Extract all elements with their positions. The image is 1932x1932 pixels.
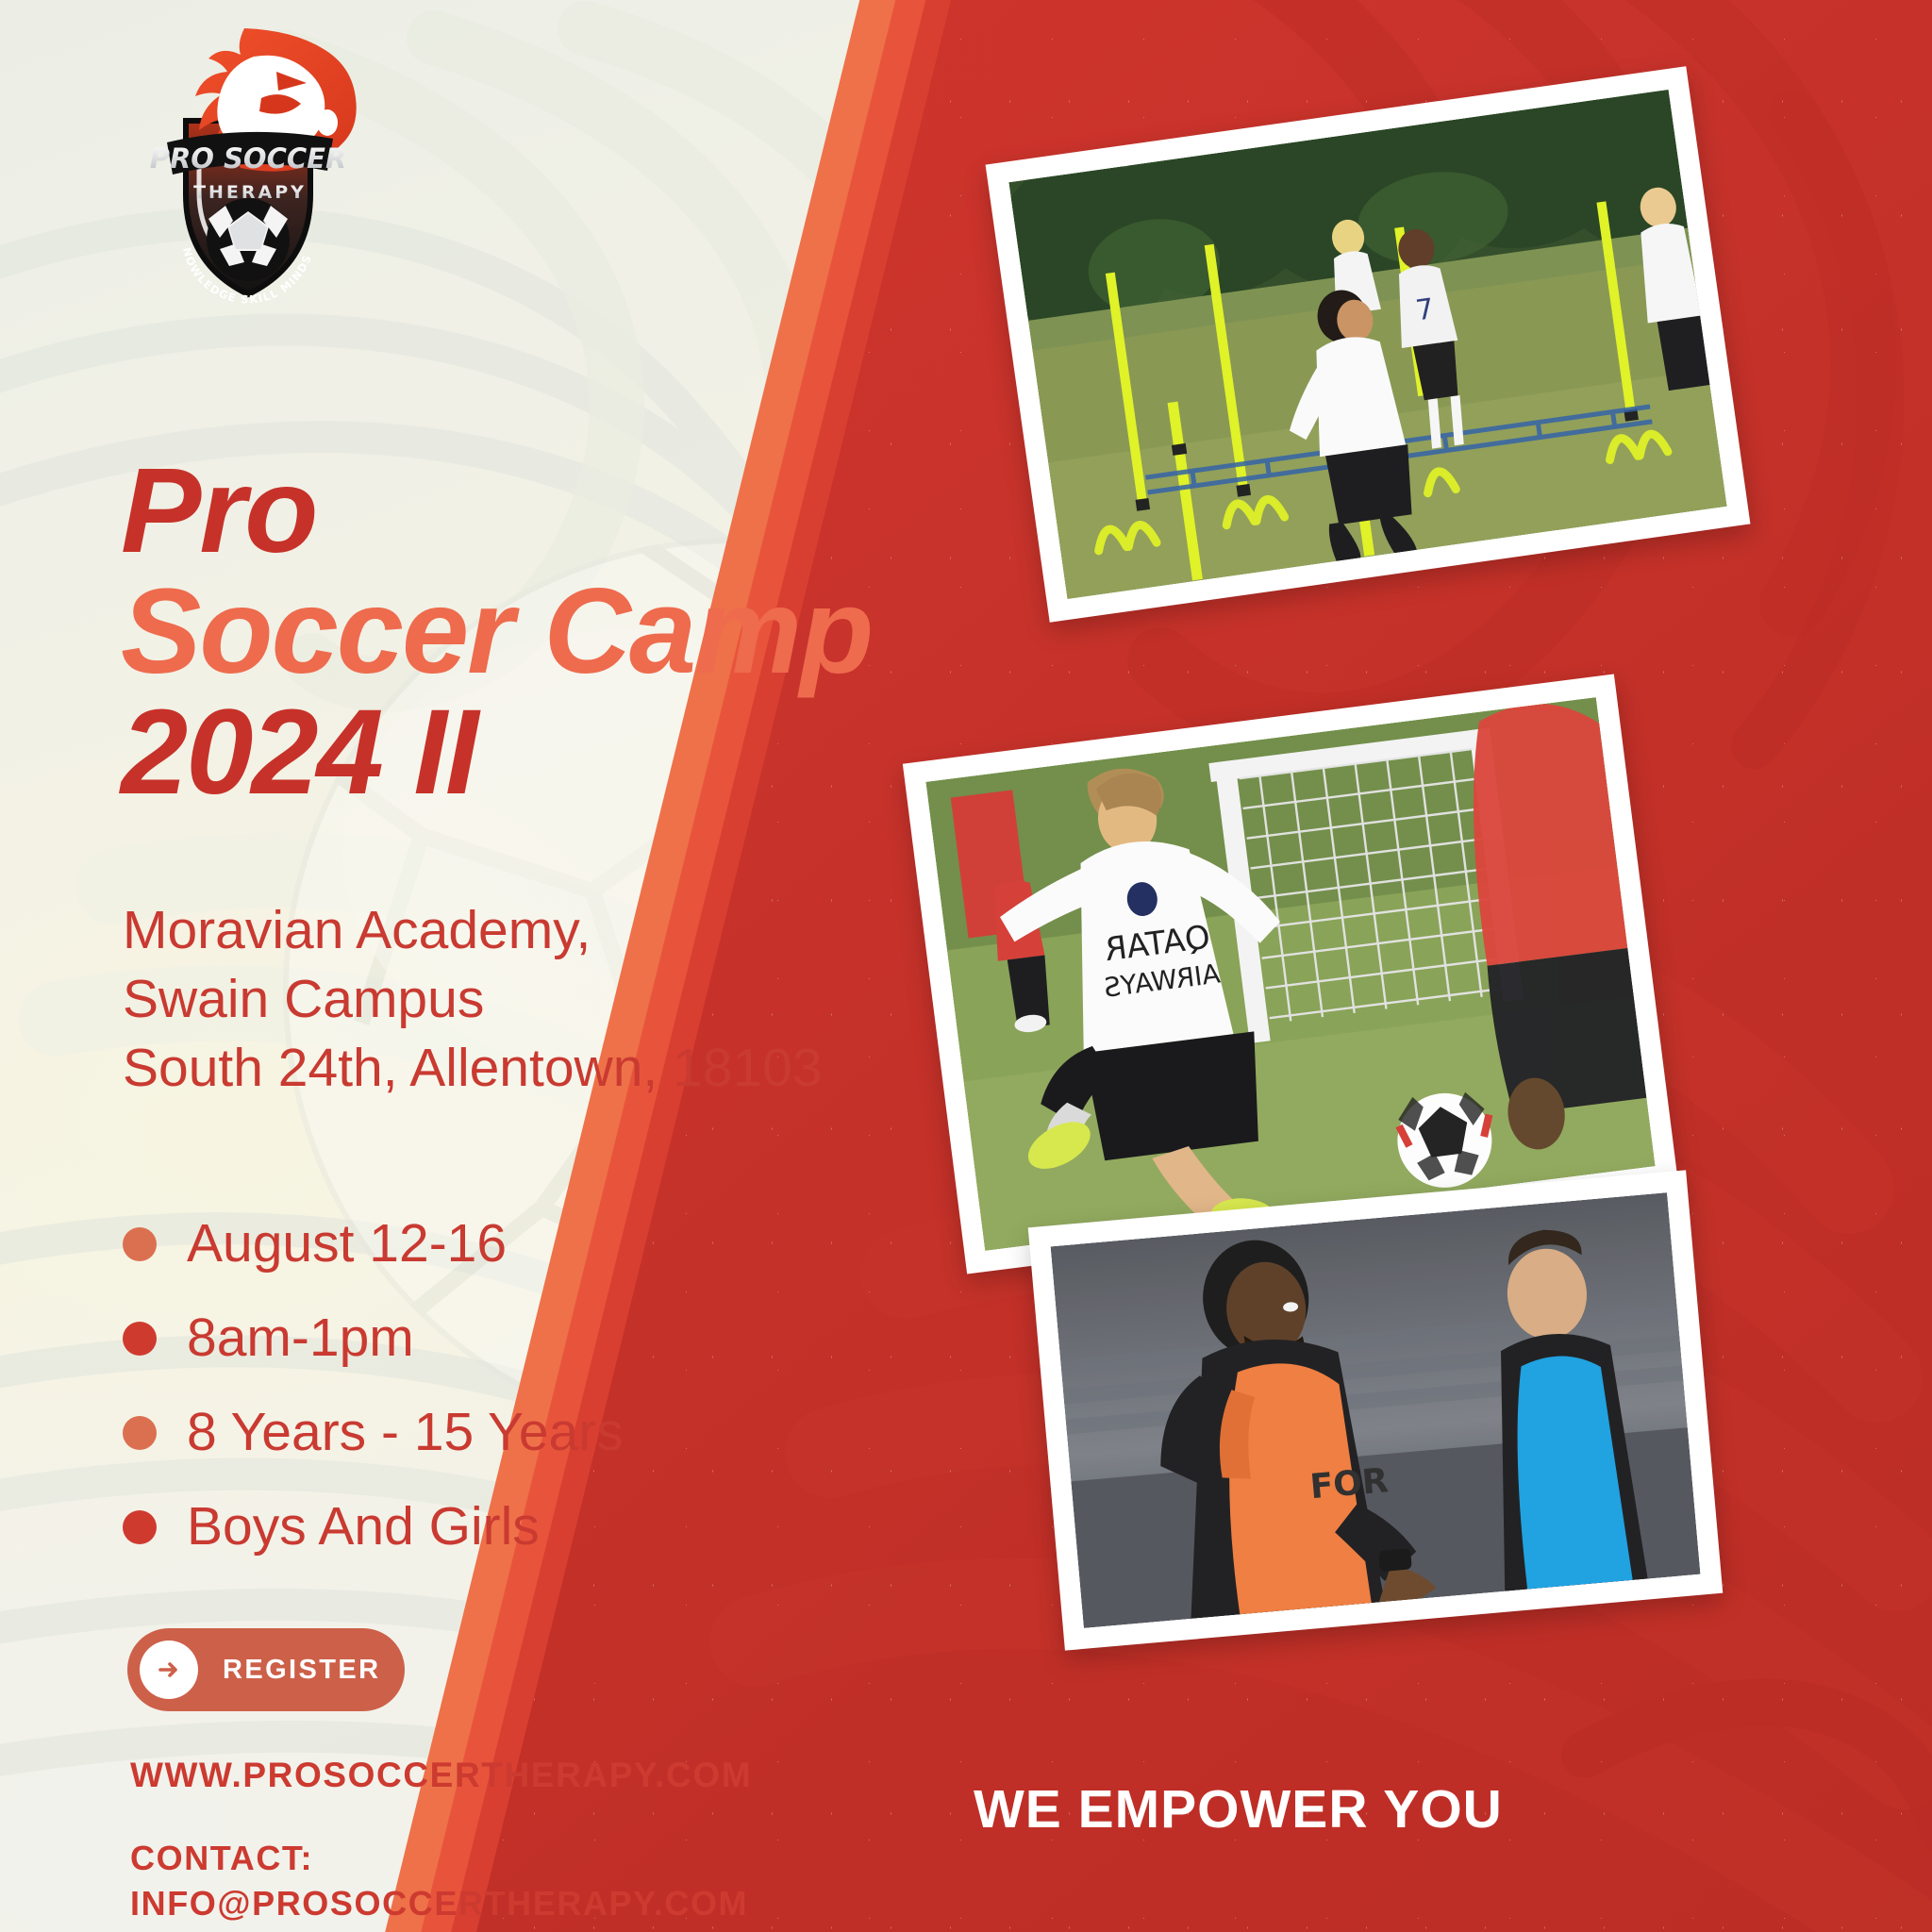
- list-item: 8 Years - 15 Years: [123, 1406, 877, 1459]
- agility-drill-photo: 7: [986, 66, 1751, 623]
- venue-line-3: South 24th, Allentown, 18103: [123, 1034, 991, 1103]
- list-item: 8am-1pm: [123, 1311, 877, 1365]
- bullet-dot-icon: [123, 1416, 157, 1450]
- brand-tagline: WE EMPOWER YOU: [974, 1778, 1503, 1840]
- headline-line-2: Soccer Camp: [121, 572, 1026, 692]
- detail-label: August 12-16: [187, 1217, 507, 1271]
- venue-address: Moravian Academy, Swain Campus South 24t…: [123, 896, 991, 1103]
- venue-line-2: Swain Campus: [123, 965, 991, 1034]
- detail-label: 8am-1pm: [187, 1311, 414, 1365]
- contact-block: CONTACT: INFO@PROSOCCERTHERAPY.COM: [130, 1836, 748, 1926]
- venue-line-1: Moravian Academy,: [123, 896, 991, 965]
- page-title: Pro Soccer Camp 2024 II: [121, 451, 1026, 813]
- contact-email[interactable]: INFO@PROSOCCERTHERAPY.COM: [130, 1881, 748, 1926]
- register-button[interactable]: REGISTER: [127, 1628, 405, 1711]
- website-url[interactable]: WWW.PROSOCCERTHERAPY.COM: [130, 1756, 752, 1795]
- bullet-dot-icon: [123, 1227, 157, 1261]
- detail-label: Boys And Girls: [187, 1500, 540, 1554]
- headline-line-1: Pro: [121, 451, 1026, 572]
- camp-details-list: August 12-16 8am-1pm 8 Years - 15 Years …: [123, 1217, 877, 1594]
- logo-pro-soccer-text: PRO SOCCER: [150, 142, 347, 175]
- headline-line-3: 2024 II: [121, 692, 1026, 813]
- bullet-dot-icon: [123, 1510, 157, 1544]
- list-item: Boys And Girls: [123, 1500, 877, 1554]
- list-item: August 12-16: [123, 1217, 877, 1271]
- contact-label: CONTACT:: [130, 1836, 748, 1881]
- register-button-label: REGISTER: [223, 1655, 380, 1686]
- pro-soccer-therapy-logo: PRO SOCCER THERAPY: [135, 17, 361, 309]
- arrow-right-icon: [140, 1641, 198, 1699]
- bullet-dot-icon: [123, 1322, 157, 1356]
- coach-photo: FOR: [1028, 1170, 1724, 1650]
- poster-canvas: 7: [0, 0, 1932, 1932]
- detail-label: 8 Years - 15 Years: [187, 1406, 624, 1459]
